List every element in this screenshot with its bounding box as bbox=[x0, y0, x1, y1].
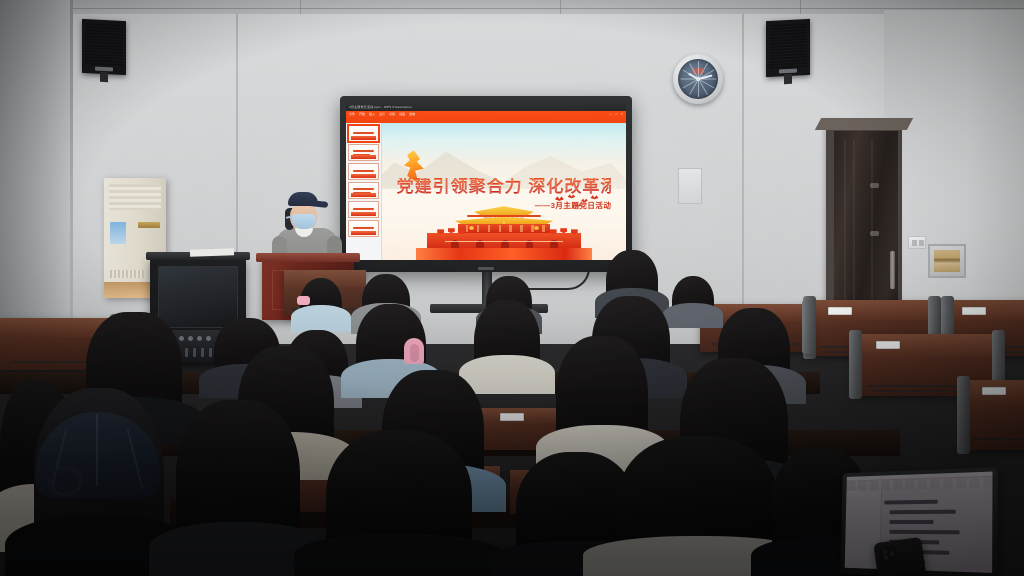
seat-number-tag bbox=[962, 307, 986, 315]
slide-thumbnail[interactable] bbox=[348, 220, 379, 237]
tiananmen-wall bbox=[427, 233, 582, 249]
classroom-photo-scene: 3月主题党日活动.pptx - WPS Presentation 文件 开始 插… bbox=[0, 0, 1024, 576]
light-switch-panel[interactable] bbox=[908, 236, 926, 249]
speaker-badge bbox=[95, 67, 113, 72]
wall-seam bbox=[742, 14, 744, 304]
ac-label bbox=[110, 222, 126, 244]
speaker-grill bbox=[769, 22, 807, 69]
seat-number-tag bbox=[500, 413, 524, 421]
audience-person-foreground bbox=[326, 430, 472, 576]
smartphone[interactable] bbox=[873, 537, 926, 576]
ac-vent-bottom bbox=[110, 270, 144, 278]
seat-number-tag bbox=[982, 387, 1006, 395]
cap-seam bbox=[96, 414, 98, 486]
minimize-icon[interactable]: — bbox=[610, 112, 613, 116]
speaker-badge bbox=[779, 69, 797, 74]
app-title-bar: 3月主题党日活动.pptx - WPS Presentation bbox=[346, 103, 626, 111]
door-header bbox=[815, 118, 913, 130]
hair-clip bbox=[410, 344, 419, 362]
podium-top bbox=[256, 253, 360, 262]
tiananmen-illustration bbox=[416, 205, 592, 260]
ac-brand-badge bbox=[138, 222, 160, 228]
slide-thumbnail[interactable] bbox=[348, 182, 379, 199]
seat-number-tag bbox=[876, 341, 900, 349]
hair-clip bbox=[297, 296, 310, 305]
presentation-display: 3月主题党日活动.pptx - WPS Presentation 文件 开始 插… bbox=[340, 96, 632, 272]
close-icon[interactable]: ✕ bbox=[620, 112, 623, 116]
door-lock-lower bbox=[870, 231, 879, 236]
clock-center bbox=[696, 77, 700, 81]
audience-person-foreground bbox=[34, 388, 164, 576]
lecture-desk bbox=[960, 380, 1024, 450]
wall-speaker-left bbox=[82, 19, 126, 75]
utility-box-inner bbox=[934, 250, 960, 272]
wall-utility-box bbox=[928, 244, 966, 278]
ribbon-tab[interactable]: 动画 bbox=[399, 112, 405, 116]
wall-speaker-right bbox=[766, 19, 810, 77]
wall-clock bbox=[673, 54, 723, 104]
speaker-grill bbox=[85, 22, 123, 67]
party-building-slide: 党建引领聚合力 深化改革添动力 ——3月主题党日活动 新闻学研究生党支部 202… bbox=[382, 123, 626, 260]
ribbon-tab[interactable]: 设计 bbox=[379, 112, 385, 116]
ribbon-tab[interactable]: 切换 bbox=[389, 112, 395, 116]
slide-thumbnail[interactable] bbox=[348, 163, 379, 180]
left-wall bbox=[0, 0, 72, 330]
person-shoulders bbox=[663, 303, 723, 328]
slide-thumbnail[interactable] bbox=[348, 201, 379, 218]
audience-person bbox=[672, 276, 714, 326]
audience-person bbox=[300, 278, 342, 330]
ribbon-tab[interactable]: 插入 bbox=[369, 112, 375, 116]
wall-corner-edge bbox=[70, 0, 73, 335]
app-ribbon: 文件 开始 插入 设计 切换 动画 放映 — □ ✕ bbox=[346, 111, 626, 123]
display-brand-logo bbox=[478, 267, 494, 270]
clock-face bbox=[678, 59, 718, 99]
slide-thumbnail-panel[interactable] bbox=[346, 123, 382, 260]
ac-vent-top bbox=[109, 184, 161, 210]
display-screen: 3月主题党日活动.pptx - WPS Presentation 文件 开始 插… bbox=[346, 103, 626, 260]
app-title-text: 3月主题党日活动.pptx - WPS Presentation bbox=[349, 105, 412, 109]
slide-canvas[interactable]: 党建引领聚合力 深化改革添动力 ——3月主题党日活动 新闻学研究生党支部 202… bbox=[382, 123, 626, 260]
ribbon-tab[interactable]: 文件 bbox=[349, 112, 355, 116]
audience-person-foreground bbox=[176, 400, 300, 576]
slide-thumbnail[interactable] bbox=[348, 144, 379, 161]
ribbon-tabs[interactable]: 文件 开始 插入 设计 切换 动画 放映 bbox=[346, 111, 626, 117]
cap-strap bbox=[48, 466, 82, 496]
right-wall bbox=[884, 10, 1024, 340]
phone-camera-module bbox=[880, 545, 898, 561]
tiananmen-upper-roof bbox=[474, 206, 534, 215]
door-lock-upper bbox=[870, 183, 879, 188]
speaker-bracket bbox=[100, 72, 108, 82]
window-controls[interactable]: — □ ✕ bbox=[610, 112, 623, 116]
person-shoulders bbox=[291, 305, 351, 332]
maximize-icon[interactable]: □ bbox=[616, 112, 618, 116]
slide-thumbnail[interactable] bbox=[348, 125, 379, 142]
speaker-bracket bbox=[784, 74, 792, 84]
ribbon-tab[interactable]: 开始 bbox=[359, 112, 365, 116]
ribbon-tab[interactable]: 放映 bbox=[409, 112, 415, 116]
person-shoulders bbox=[294, 534, 504, 576]
seat-number-tag bbox=[828, 307, 852, 315]
door-handle[interactable] bbox=[890, 251, 895, 289]
tiananmen-plinth bbox=[416, 248, 592, 260]
wall-vent-panel bbox=[678, 168, 702, 204]
slide-title: 党建引领聚合力 深化改革添动力 bbox=[397, 178, 612, 195]
